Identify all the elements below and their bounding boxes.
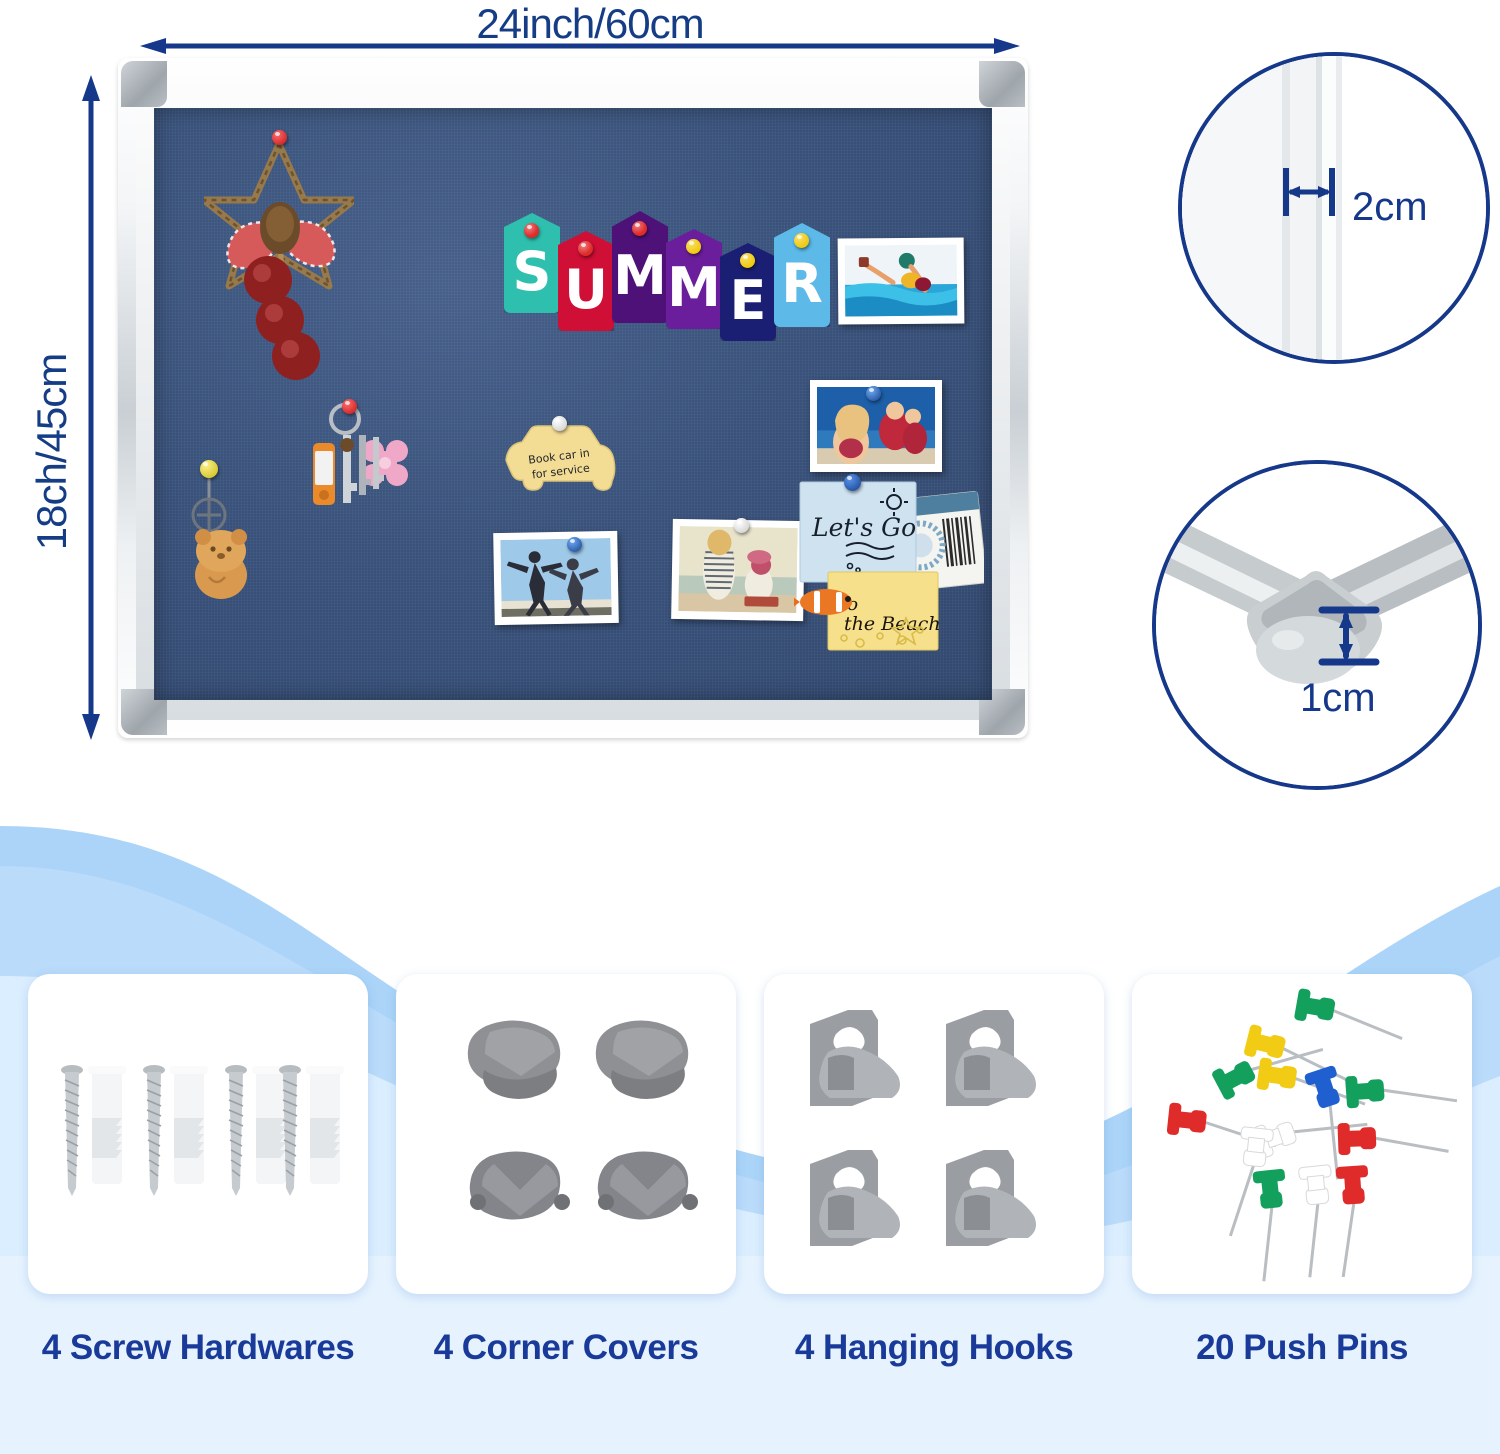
frame-thickness-detail-circle xyxy=(1178,52,1490,364)
svg-text:Let's Go: Let's Go xyxy=(811,513,916,542)
pin-sandcastle xyxy=(734,518,749,533)
accessory-hanging-hooks-image xyxy=(764,974,1104,1294)
pin-beach-note xyxy=(844,474,861,491)
frame-thickness-label: 2cm xyxy=(1352,185,1428,230)
accessory-push-pins-image xyxy=(1132,974,1472,1294)
accessory-screws: 4 Screw Hardwares xyxy=(28,974,368,1368)
keys-keychain xyxy=(299,403,409,523)
pin-ornament xyxy=(272,130,287,145)
accessory-screws-label: 4 Screw Hardwares xyxy=(28,1328,368,1368)
pin-summer-tag-0 xyxy=(524,223,539,238)
accessory-screws-image xyxy=(28,974,368,1294)
height-dimension-label: 18ch/45cm xyxy=(28,302,76,602)
pin-summer-tag-2 xyxy=(632,221,647,236)
summer-letter-tags: SUMMER xyxy=(504,213,830,341)
pin-bear xyxy=(200,460,218,478)
pin-keys xyxy=(342,399,357,414)
accessory-corner-covers-image xyxy=(396,974,736,1294)
accessory-push-pins-label: 20 Push Pins xyxy=(1132,1328,1472,1368)
pin-summer-tag-1 xyxy=(578,241,593,256)
corner-height-label: 1cm xyxy=(1300,676,1376,721)
accessory-push-pins: 20 Push Pins xyxy=(1132,974,1472,1368)
height-dimension-arrow xyxy=(82,75,100,740)
pin-summer-tag-5 xyxy=(794,233,809,248)
felt-pin-surface: SUMMER Book car in for service xyxy=(154,108,992,700)
pin-summer-tag-3 xyxy=(686,239,701,254)
accessory-hanging-hooks-label: 4 Hanging Hooks xyxy=(764,1328,1104,1368)
corner-height-detail-circle xyxy=(1152,460,1482,790)
star-bells-ornament xyxy=(204,128,354,388)
accessories-section: 4 Screw Hardwares xyxy=(0,826,1500,1454)
dimension-diagram-section: 24inch/60cm 18ch/45cm xyxy=(0,0,1500,830)
car-sticky-note: Book car in for service xyxy=(494,418,616,513)
pin-summer-tag-4 xyxy=(740,253,755,268)
accessory-corner-covers: 4 Corner Covers xyxy=(396,974,736,1368)
bulletin-board: SUMMER Book car in for service xyxy=(118,58,1028,738)
pin-beach-family xyxy=(866,386,881,401)
pin-jumping-couple xyxy=(567,537,582,552)
bear-keychain xyxy=(179,463,269,603)
svg-text:the Beach: the Beach xyxy=(844,613,941,635)
beach-note-cluster: Let's Go to the Beach xyxy=(794,478,984,653)
sandcastle-photo xyxy=(671,519,805,621)
pin-car-note xyxy=(552,416,567,431)
accessory-hanging-hooks: 4 Hanging Hooks xyxy=(764,974,1104,1368)
water-ski-photo xyxy=(838,237,965,324)
accessory-cards: 4 Screw Hardwares xyxy=(0,974,1500,1368)
corner-cover-top-right xyxy=(979,61,1025,107)
width-dimension-arrow xyxy=(140,38,1020,54)
jumping-couple-photo xyxy=(493,531,619,625)
corner-cover-top-left xyxy=(121,61,167,107)
accessory-corner-covers-label: 4 Corner Covers xyxy=(396,1328,736,1368)
